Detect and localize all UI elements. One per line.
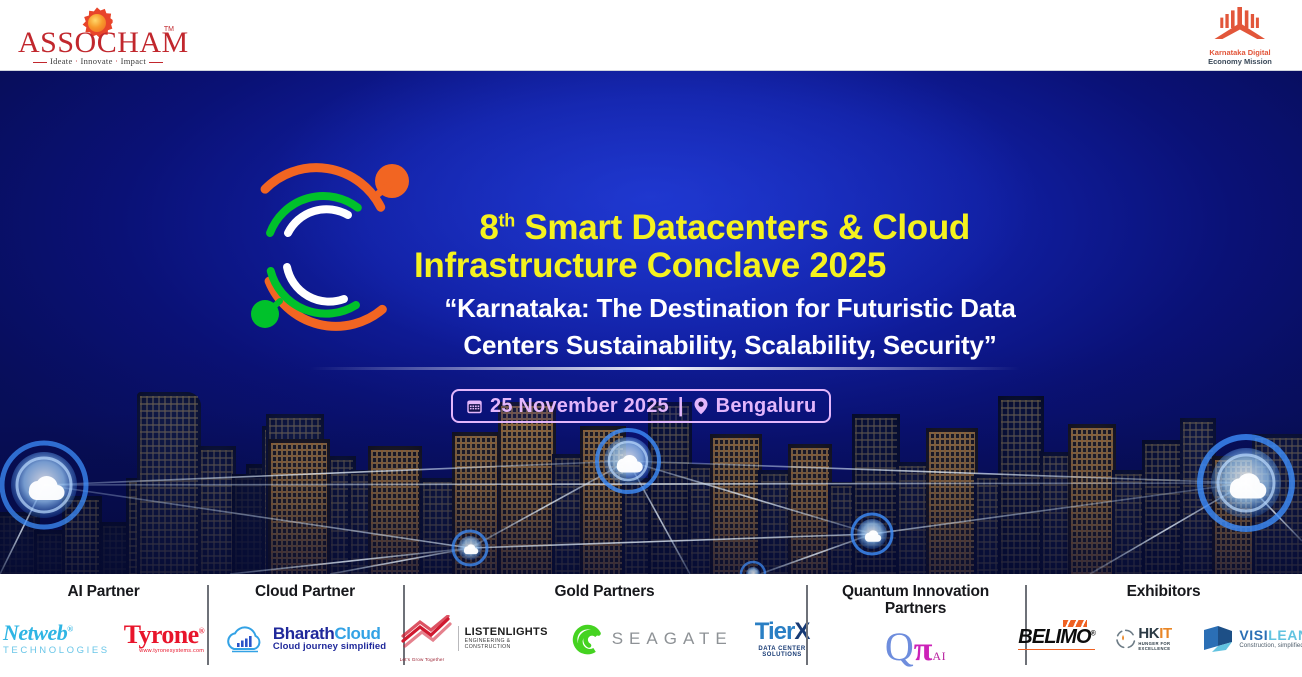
- qpiai-letters-ai: AI: [932, 649, 946, 663]
- logo-tyrone[interactable]: Tyrone® www.tyronesystems.com: [124, 622, 204, 655]
- event-edition-number: 8: [479, 208, 498, 247]
- bharathcloud-cloud-icon: [224, 623, 268, 655]
- partner-section-gold: Gold Partners Let's Grow Together: [403, 574, 806, 677]
- quantum-heading-line-1: Quantum Innovation: [842, 583, 989, 600]
- cloud-node-small-left: [453, 531, 487, 565]
- kdem-logo: Karnataka Digital Economy Mission: [1188, 5, 1292, 67]
- belimo-stripes-icon: [1063, 620, 1087, 627]
- event-title-line-1: 8th Smart Datacenters & Cloud: [330, 209, 970, 247]
- logo-hkit[interactable]: HKIT HUNGER FOR EXCELLENCE: [1115, 624, 1182, 654]
- bharathcloud-tagline: Cloud journey simplified: [273, 642, 386, 652]
- kdem-mark-icon: [1213, 7, 1267, 40]
- event-title-line-1-text: Smart Datacenters & Cloud: [524, 208, 970, 247]
- assocham-tagline-1: Ideate: [50, 56, 73, 66]
- logo-tierx[interactable]: TierX DATA CENTER SOLUTIONS: [755, 620, 810, 658]
- tierx-subtext: DATA CENTER SOLUTIONS: [755, 646, 810, 658]
- tyrone-url: www.tyronesystems.com: [124, 649, 204, 655]
- partner-section-cloud: Cloud Partner BharathCloud Cloud journey…: [207, 574, 403, 677]
- header-bar: ASSOCHAM TM Ideate · Innovate · Impact K…: [0, 0, 1302, 71]
- partners-footer: AI Partner Netweb® TECHNOLOGIES Tyrone® …: [0, 574, 1302, 677]
- bharathcloud-word-a: Bharath: [273, 624, 334, 643]
- event-title: 8th Smart Datacenters & Cloud Infrastruc…: [330, 209, 970, 285]
- cloud-node-center: [597, 430, 659, 492]
- tierx-word-a: Tier: [755, 618, 795, 645]
- kdem-name-line-2: Economy Mission: [1188, 58, 1292, 67]
- hero-section: 8th Smart Datacenters & Cloud Infrastruc…: [0, 71, 1302, 574]
- title-divider: [310, 367, 1020, 370]
- hkit-subtext: HUNGER FOR EXCELLENCE: [1138, 642, 1182, 650]
- visilean-word-b: LEAN: [1268, 627, 1302, 643]
- tyrone-registered-mark: ®: [199, 627, 204, 636]
- partner-section-exhibitors: Exhibitors BELIMO®: [1025, 574, 1302, 677]
- partner-section-ai: AI Partner Netweb® TECHNOLOGIES Tyrone® …: [0, 574, 207, 677]
- tyrone-wordmark: Tyrone: [124, 620, 199, 649]
- visilean-tagline: Construction, simplified: [1239, 643, 1302, 650]
- event-venue: Bengaluru: [716, 395, 817, 418]
- partner-section-quantum: Quantum Innovation Partners QπAI: [806, 574, 1025, 677]
- logo-listenlights[interactable]: Let's Grow Together LISTENLIGHTS ENGINEE…: [400, 615, 548, 662]
- visilean-word-a: VISI: [1239, 627, 1268, 643]
- logo-visilean[interactable]: VISILEAN Construction, simplified: [1202, 624, 1302, 654]
- partner-section-heading: Exhibitors: [1127, 583, 1201, 600]
- logo-bharathcloud[interactable]: BharathCloud Cloud journey simplified: [224, 623, 386, 655]
- calendar-icon: [466, 398, 483, 415]
- date-venue-badge: 25 November 2025 | Bengaluru: [451, 389, 831, 423]
- cloud-node-small-right: [852, 514, 892, 554]
- hkit-word-b: IT: [1159, 625, 1172, 642]
- assocham-logo: ASSOCHAM TM Ideate · Innovate · Impact: [18, 4, 178, 68]
- event-subtitle-line-1: “Karnataka: The Destination for Futurist…: [330, 290, 1130, 327]
- partner-section-heading: Cloud Partner: [255, 583, 355, 600]
- assocham-trademark: TM: [164, 26, 174, 33]
- event-subtitle: “Karnataka: The Destination for Futurist…: [330, 290, 1130, 364]
- assocham-tagline-2: Innovate: [81, 56, 113, 66]
- netweb-wordmark: Netweb: [3, 620, 67, 645]
- partner-section-heading: Quantum Innovation Partners: [842, 583, 989, 617]
- netweb-subtext: TECHNOLOGIES: [3, 646, 110, 656]
- belimo-wordmark: BELIMO: [1018, 626, 1090, 648]
- hkit-word-a: HK: [1138, 625, 1159, 642]
- listenlights-subtext: ENGINEERING & CONSTRUCTION: [465, 639, 548, 651]
- listenlights-wordmark: LISTENLIGHTS: [465, 626, 548, 639]
- partner-section-heading: Gold Partners: [555, 583, 655, 600]
- listenlights-chevron-icon: [400, 615, 452, 649]
- partner-section-heading: AI Partner: [67, 583, 139, 600]
- event-title-line-2: Infrastructure Conclave 2025: [330, 247, 970, 285]
- visilean-mark-icon: [1202, 624, 1234, 654]
- listenlights-tagline: Let's Grow Together: [400, 657, 452, 662]
- quantum-heading-line-2: Partners: [842, 600, 989, 617]
- location-pin-icon: [693, 397, 709, 415]
- logo-qpiai[interactable]: QπAI: [885, 627, 946, 667]
- badge-separator: |: [676, 395, 686, 418]
- logo-belimo[interactable]: BELIMO®: [1018, 627, 1095, 651]
- event-subtitle-line-2: Centers Sustainability, Scalability, Sec…: [330, 327, 1130, 364]
- qpiai-letter-q: Q: [885, 624, 914, 669]
- seagate-spiral-icon: [570, 622, 604, 656]
- bharathcloud-word-b: Cloud: [334, 624, 380, 643]
- seagate-wordmark: SEAGATE: [612, 629, 733, 649]
- hkit-circular-icon: [1115, 624, 1136, 654]
- qpiai-symbol-pi: π: [914, 631, 933, 668]
- assocham-tagline: Ideate · Innovate · Impact: [18, 56, 178, 66]
- cloud-node-tiny: [741, 562, 765, 574]
- event-date: 25 November 2025: [490, 395, 669, 418]
- event-edition-ordinal: th: [499, 210, 515, 230]
- assocham-wordmark: ASSOCHAM: [18, 28, 178, 58]
- belimo-registered-mark: ®: [1091, 630, 1095, 637]
- netweb-registered-mark: ®: [67, 624, 72, 633]
- assocham-tagline-3: Impact: [121, 56, 146, 66]
- logo-netweb-technologies[interactable]: Netweb® TECHNOLOGIES: [3, 622, 110, 656]
- cloud-node-right: [1200, 437, 1292, 529]
- logo-seagate[interactable]: SEAGATE: [570, 622, 733, 656]
- event-banner: ASSOCHAM TM Ideate · Innovate · Impact K…: [0, 0, 1302, 677]
- cloud-node-left: [2, 443, 86, 527]
